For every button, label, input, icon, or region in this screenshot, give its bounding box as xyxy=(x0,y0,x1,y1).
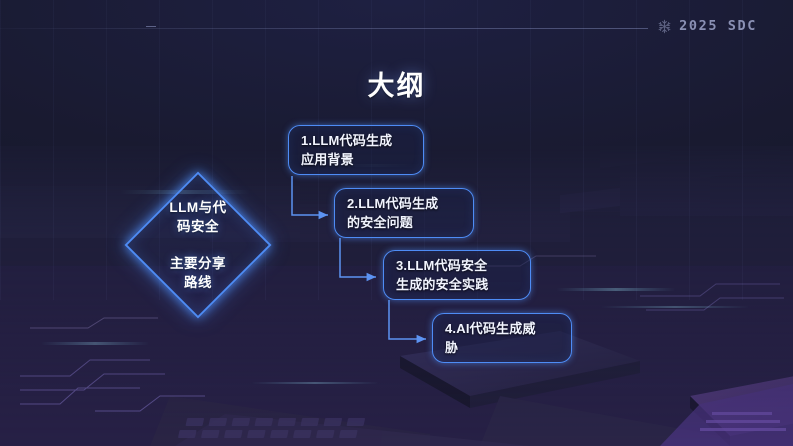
flow-node-2-label: 2.LLM代码生成 的安全问题 xyxy=(347,194,438,232)
flow-node-3-label: 3.LLM代码安全 生成的安全实践 xyxy=(396,256,488,294)
flow-node-2[interactable]: 2.LLM代码生成 的安全问题 xyxy=(334,188,474,238)
slide-root: 2025 SDC 大纲 LLM与代 码安全 主要分享 路线 1.LLM代码生成 … xyxy=(0,0,793,446)
diagram-node-list: 1.LLM代码生成 应用背景 2.LLM代码生成 的安全问题 3.LLM代码安全… xyxy=(0,0,793,446)
flow-node-1-label: 1.LLM代码生成 应用背景 xyxy=(301,131,392,169)
flow-node-4[interactable]: 4.AI代码生成威 胁 xyxy=(432,313,572,363)
flow-node-3[interactable]: 3.LLM代码安全 生成的安全实践 xyxy=(383,250,531,300)
flow-node-4-label: 4.AI代码生成威 胁 xyxy=(445,319,536,357)
flow-node-1[interactable]: 1.LLM代码生成 应用背景 xyxy=(288,125,424,175)
